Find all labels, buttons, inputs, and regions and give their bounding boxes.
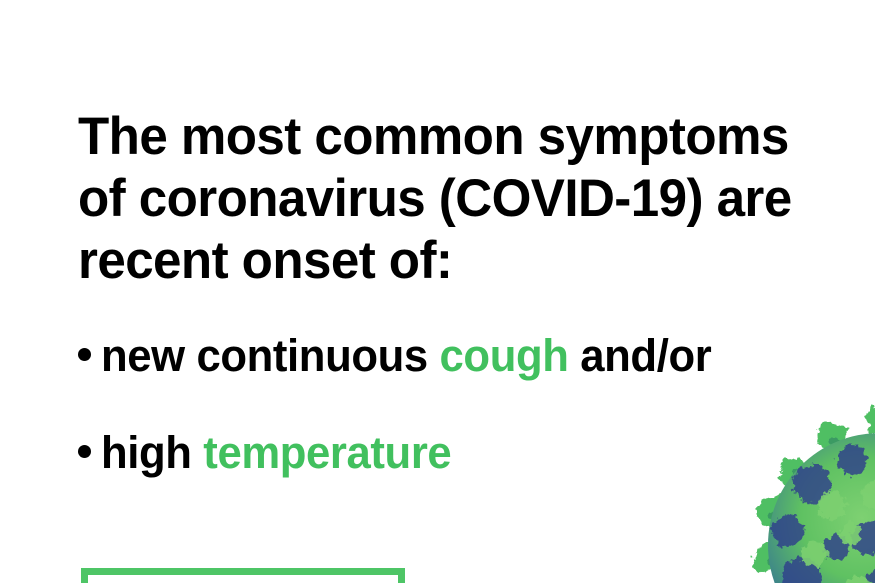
heading-line-3: recent onset of: <box>78 230 792 292</box>
poster-canvas: The most common symptoms of coronavirus … <box>0 0 875 583</box>
symptom-list-item-temperature: high temperature <box>78 427 462 479</box>
coronavirus-illustration <box>740 388 875 583</box>
heading-line-1: The most common symptoms <box>78 106 792 168</box>
page-title: The most common symptoms of coronavirus … <box>78 106 818 292</box>
symptom-highlight-temperature: temperature <box>203 427 451 478</box>
bullet-dot-icon <box>78 348 91 361</box>
symptom-text-after: and/or <box>569 330 712 381</box>
symptom-text-before: new continuous <box>101 330 440 381</box>
callout-box: If you have <box>81 568 405 583</box>
bullet-dot-icon <box>78 445 91 458</box>
callout-box-label: If you have <box>88 575 398 583</box>
heading-line-2: of coronavirus (COVID-19) are <box>78 168 792 230</box>
symptom-highlight-cough: cough <box>440 330 569 381</box>
symptom-text-before: high <box>101 427 203 478</box>
symptom-list-item-cough: new continuous cough and/or <box>78 330 730 382</box>
symptom-text-cough: new continuous cough and/or <box>101 330 711 382</box>
symptom-text-temperature: high temperature <box>101 427 451 479</box>
